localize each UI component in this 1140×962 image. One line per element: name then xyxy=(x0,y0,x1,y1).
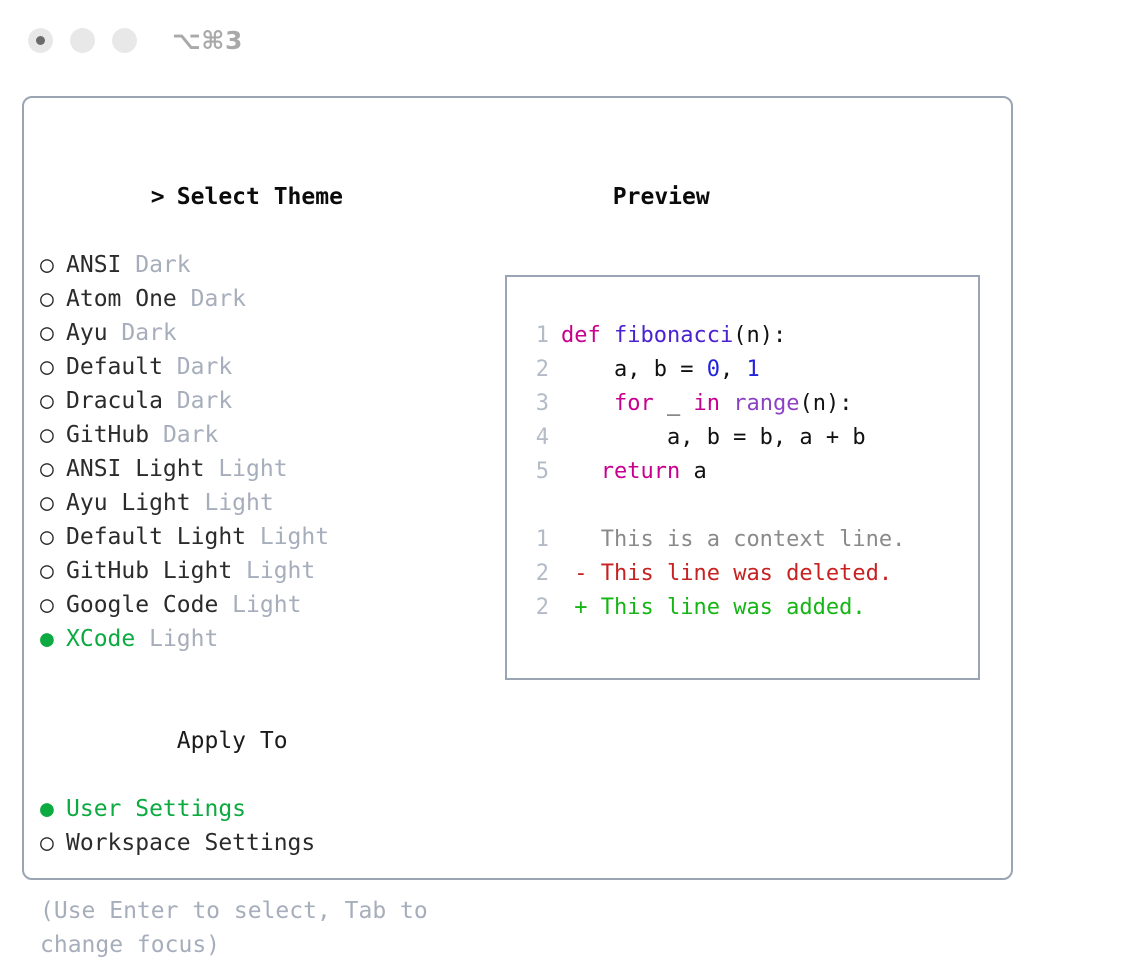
radio-unselected-icon: ○ xyxy=(40,350,66,384)
radio-unselected-icon: ○ xyxy=(40,452,66,486)
line-number: 2 xyxy=(523,557,549,591)
theme-option-label: ANSI Light xyxy=(66,456,204,482)
diff-text: This line was deleted. xyxy=(588,561,893,586)
theme-option-label: Default Light xyxy=(66,524,246,550)
preview-header: Preview xyxy=(502,146,1011,248)
diff-marker: - xyxy=(561,561,588,586)
theme-option-label: GitHub xyxy=(66,422,149,448)
radio-unselected-icon: ○ xyxy=(40,554,66,588)
apply-to-label: Apply To xyxy=(177,728,288,754)
focus-marker-icon: > xyxy=(151,180,177,214)
theme-option-label: Ayu Light xyxy=(66,490,191,516)
diff-marker xyxy=(561,527,588,552)
theme-option[interactable]: ○Google Code Light xyxy=(40,588,494,622)
diff-line: 2 + This line was added. xyxy=(507,591,978,625)
apply-to-header: Apply To xyxy=(40,690,494,792)
radio-selected-icon: ● xyxy=(40,622,66,656)
code-token: _ xyxy=(654,391,694,416)
code-token xyxy=(601,323,614,348)
theme-option[interactable]: ○Default Light Light xyxy=(40,520,494,554)
code-token xyxy=(561,391,614,416)
apply-to-option[interactable]: ○Workspace Settings xyxy=(40,826,494,860)
code-token: fibonacci xyxy=(614,323,733,348)
theme-option-kind: Light xyxy=(135,626,218,652)
diff-line: 2 - This line was deleted. xyxy=(507,557,978,591)
left-column: >Select Theme ○ANSI Dark○Atom One Dark○A… xyxy=(24,98,494,878)
line-number: 3 xyxy=(523,387,549,421)
section-spacer xyxy=(40,656,494,690)
diff-sample: 1 This is a context line.2 - This line w… xyxy=(507,523,978,625)
radio-unselected-icon: ○ xyxy=(40,520,66,554)
code-token: a, b = xyxy=(561,357,707,382)
theme-option-kind: Light xyxy=(191,490,274,516)
code-token: 1 xyxy=(746,357,759,382)
theme-option-kind: Light xyxy=(232,558,315,584)
preview-label: Preview xyxy=(613,184,710,210)
apply-to-option-label: Workspace Settings xyxy=(66,830,315,856)
theme-list: ○ANSI Dark○Atom One Dark○Ayu Dark○Defaul… xyxy=(40,248,494,656)
code-token: , xyxy=(720,357,747,382)
code-token: in xyxy=(693,391,720,416)
theme-option[interactable]: ○Ayu Dark xyxy=(40,316,494,350)
code-token xyxy=(561,459,601,484)
window-controls xyxy=(28,28,137,53)
theme-option-kind: Dark xyxy=(163,354,232,380)
code-line: 3 for _ in range(n): xyxy=(507,387,978,421)
code-token: (n): xyxy=(799,391,852,416)
code-line: 5 return a xyxy=(507,455,978,489)
code-line: 1def fibonacci(n): xyxy=(507,319,978,353)
line-number: 2 xyxy=(523,591,549,625)
theme-option[interactable]: ●XCode Light xyxy=(40,622,494,656)
diff-line: 1 This is a context line. xyxy=(507,523,978,557)
theme-option-label: Dracula xyxy=(66,388,163,414)
theme-option-kind: Dark xyxy=(149,422,218,448)
code-token: a xyxy=(680,459,707,484)
theme-option-label: Atom One xyxy=(66,286,177,312)
theme-option-kind: Dark xyxy=(121,252,190,278)
code-token: 0 xyxy=(707,357,720,382)
code-token xyxy=(720,391,733,416)
apply-to-option[interactable]: ●User Settings xyxy=(40,792,494,826)
code-token: def xyxy=(561,323,601,348)
line-number: 2 xyxy=(523,353,549,387)
radio-unselected-icon: ○ xyxy=(40,588,66,622)
theme-option[interactable]: ○Ayu Light Light xyxy=(40,486,494,520)
code-token: for xyxy=(614,391,654,416)
code-token: range xyxy=(733,391,799,416)
theme-option-label: Google Code xyxy=(66,592,218,618)
window-title: ⌥⌘3 xyxy=(172,26,243,55)
radio-unselected-icon: ○ xyxy=(40,316,66,350)
theme-option-label: ANSI xyxy=(66,252,121,278)
apply-to-marker-spacer xyxy=(151,724,177,758)
select-theme-label: Select Theme xyxy=(177,184,343,210)
radio-unselected-icon: ○ xyxy=(40,418,66,452)
line-number: 4 xyxy=(523,421,549,455)
theme-option-kind: Light xyxy=(218,592,301,618)
theme-option-kind: Dark xyxy=(163,388,232,414)
keyboard-hint: (Use Enter to select, Tab to change focu… xyxy=(40,894,460,962)
code-token: (n): xyxy=(733,323,786,348)
theme-option-kind: Light xyxy=(204,456,287,482)
code-sample: 1def fibonacci(n):2 a, b = 0, 13 for _ i… xyxy=(507,319,978,489)
theme-selector-panel: >Select Theme ○ANSI Dark○Atom One Dark○A… xyxy=(22,96,1013,880)
maximize-dot[interactable] xyxy=(112,28,137,53)
apply-to-option-label: User Settings xyxy=(66,796,246,822)
code-diff-spacer xyxy=(507,489,978,523)
radio-selected-icon: ● xyxy=(40,792,66,826)
line-number: 1 xyxy=(523,523,549,557)
close-dot[interactable] xyxy=(28,28,53,53)
theme-option-label: GitHub Light xyxy=(66,558,232,584)
theme-option-kind: Light xyxy=(246,524,329,550)
diff-text: This is a context line. xyxy=(588,527,906,552)
theme-option[interactable]: ○Dracula Dark xyxy=(40,384,494,418)
code-token: return xyxy=(601,459,680,484)
theme-option-label: XCode xyxy=(66,626,135,652)
code-token: a, b = b, a + b xyxy=(561,425,866,450)
line-number: 1 xyxy=(523,319,549,353)
theme-option[interactable]: ○ANSI Light Light xyxy=(40,452,494,486)
theme-option[interactable]: ○GitHub Light Light xyxy=(40,554,494,588)
close-dot-inner xyxy=(36,36,45,45)
radio-unselected-icon: ○ xyxy=(40,384,66,418)
radio-unselected-icon: ○ xyxy=(40,282,66,316)
select-theme-header: >Select Theme xyxy=(40,146,494,248)
apply-to-list: ●User Settings○Workspace Settings xyxy=(40,792,494,860)
window-title-bar: ⌥⌘3 xyxy=(0,0,1140,80)
theme-option-label: Ayu xyxy=(66,320,108,346)
line-number: 5 xyxy=(523,455,549,489)
radio-unselected-icon: ○ xyxy=(40,826,66,860)
code-line: 4 a, b = b, a + b xyxy=(507,421,978,455)
radio-unselected-icon: ○ xyxy=(40,486,66,520)
preview-box: 1def fibonacci(n):2 a, b = 0, 13 for _ i… xyxy=(505,275,980,680)
code-line: 2 a, b = 0, 1 xyxy=(507,353,978,387)
theme-option[interactable]: ○ANSI Dark xyxy=(40,248,494,282)
theme-option-label: Default xyxy=(66,354,163,380)
theme-option[interactable]: ○Atom One Dark xyxy=(40,282,494,316)
diff-text: This line was added. xyxy=(588,595,866,620)
theme-option[interactable]: ○GitHub Dark xyxy=(40,418,494,452)
theme-option-kind: Dark xyxy=(177,286,246,312)
diff-marker: + xyxy=(561,595,588,620)
radio-unselected-icon: ○ xyxy=(40,248,66,282)
theme-option-kind: Dark xyxy=(108,320,177,346)
right-column: Preview 1def fibonacci(n):2 a, b = 0, 13… xyxy=(494,98,1011,878)
theme-option[interactable]: ○Default Dark xyxy=(40,350,494,384)
minimize-dot[interactable] xyxy=(70,28,95,53)
